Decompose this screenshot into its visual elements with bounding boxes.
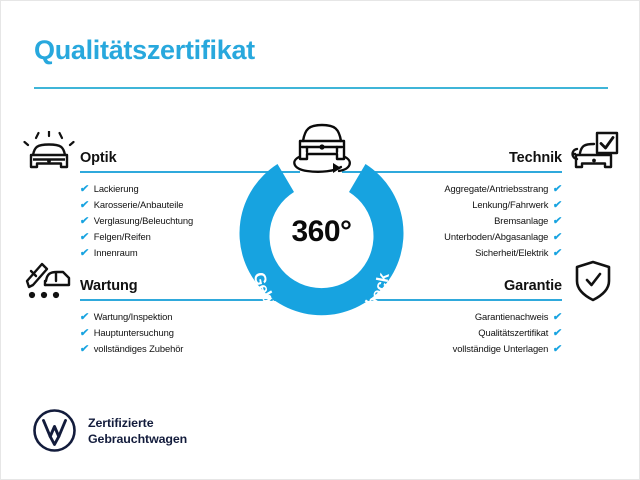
check-icon: ✔	[79, 325, 90, 341]
list-item-label: Unterboden/Abgasanlage	[444, 231, 548, 242]
badge-degrees-label: 360°	[229, 215, 414, 249]
service-pen-car-icon	[23, 259, 75, 303]
check-icon: ✔	[552, 213, 563, 229]
qualitaetszertifikat-page: Qualitätszertifikat	[0, 0, 640, 480]
check-icon: ✔	[79, 309, 90, 325]
list-item-label: Aggregate/Antriebsstrang	[444, 183, 548, 194]
list-item: Qualitätszertifikat✔	[359, 325, 562, 341]
page-title: Qualitätszertifikat	[34, 35, 255, 66]
list-item-label: vollständige Unterlagen	[453, 343, 549, 354]
section-title-optik: Optik	[80, 150, 117, 166]
check-icon: ✔	[552, 229, 563, 245]
list-item-label: Qualitätszertifikat	[478, 327, 548, 338]
check-icon: ✔	[552, 197, 563, 213]
vw-logo	[33, 409, 76, 452]
check-icon: ✔	[79, 341, 90, 357]
footer-line-2: Gebrauchtwagen	[88, 431, 187, 447]
list-item-label: Felgen/Reifen	[94, 231, 151, 242]
list-item-label: Garantienachweis	[475, 311, 548, 322]
check-icon: ✔	[552, 341, 563, 357]
check-icon: ✔	[79, 229, 90, 245]
list-item-label: Lackierung	[94, 183, 139, 194]
shield-check-icon	[567, 259, 619, 303]
list-item: ✔vollständiges Zubehör	[80, 341, 283, 357]
section-title-technik: Technik	[509, 150, 562, 166]
list-item-label: Lenkung/Fahrwerk	[472, 199, 548, 210]
footer-line-1: Zertifizierte	[88, 415, 187, 431]
list-item-label: Karosserie/Anbauteile	[94, 199, 184, 210]
car-shine-icon	[23, 131, 75, 175]
list-item-label: Sicherheit/Elektrik	[475, 247, 548, 258]
list-item-label: Verglasung/Beleuchtung	[94, 215, 193, 226]
list-item-label: Wartung/Inspektion	[94, 311, 173, 322]
check-icon: ✔	[552, 309, 563, 325]
check-icon: ✔	[552, 181, 563, 197]
footer-text: Zertifizierte Gebrauchtwagen	[88, 415, 187, 447]
360-check-badge: Gebrauchtwagen-Check 360°	[229, 119, 414, 324]
car-checkbox-icon	[567, 131, 619, 175]
check-icon: ✔	[79, 181, 90, 197]
section-title-wartung: Wartung	[80, 278, 138, 294]
title-divider	[34, 87, 608, 89]
footer-brand: Zertifizierte Gebrauchtwagen	[33, 409, 187, 452]
list-item: ✔Hauptuntersuchung	[80, 325, 283, 341]
check-icon: ✔	[79, 213, 90, 229]
check-icon: ✔	[552, 325, 563, 341]
section-title-garantie: Garantie	[504, 278, 562, 294]
list-item-label: vollständiges Zubehör	[94, 343, 184, 354]
list-item-label: Innenraum	[94, 247, 138, 258]
list-item-label: Hauptuntersuchung	[94, 327, 174, 338]
list-item: vollständige Unterlagen✔	[359, 341, 562, 357]
list-item-label: Bremsanlage	[494, 215, 548, 226]
check-icon: ✔	[79, 197, 90, 213]
